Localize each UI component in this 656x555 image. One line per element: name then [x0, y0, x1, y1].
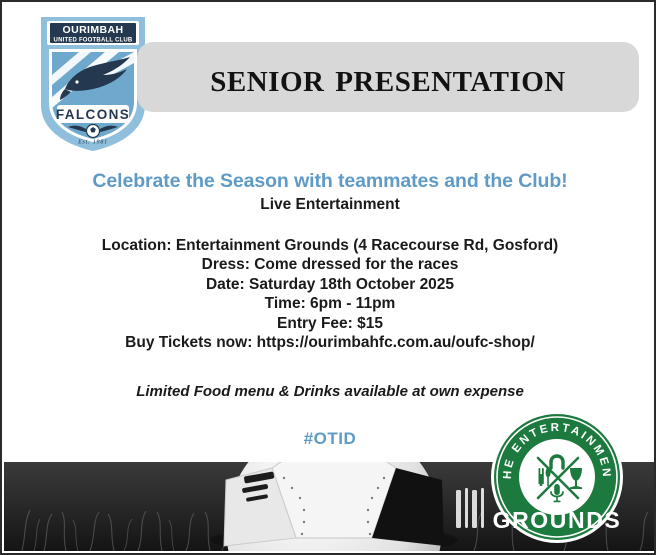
- svg-text:FALCONS: FALCONS: [56, 107, 130, 122]
- food-drinks-note: Limited Food menu & Drinks available at …: [2, 383, 656, 400]
- ourimbah-united-football-club-crest: OURIMBAH UNITED FOOTBALL CLUB FALCONS: [35, 13, 151, 154]
- the-entertainment-grounds-logo: THE ENTERTAINMENT GROUNDS: [490, 410, 624, 544]
- detail-dress: Dress: Come dressed for the races: [2, 255, 656, 274]
- event-details: Location: Entertainment Grounds (4 Racec…: [2, 236, 656, 352]
- detail-location: Location: Entertainment Grounds (4 Racec…: [2, 236, 656, 255]
- page-title: Senior Presentation: [210, 57, 565, 98]
- detail-time: Time: 6pm - 11pm: [2, 294, 656, 313]
- detail-date: Date: Saturday 18th October 2025: [2, 275, 656, 294]
- detail-tickets-link[interactable]: Buy Tickets now: https://ourimbahfc.com.…: [2, 333, 656, 352]
- headline: Celebrate the Season with teammates and …: [2, 170, 656, 193]
- svg-text:Est. 1981: Est. 1981: [77, 140, 108, 146]
- detail-entry-fee: Entry Fee: $15: [2, 314, 656, 333]
- svg-text:OURIMBAH: OURIMBAH: [63, 24, 124, 36]
- venue-logo-bottom-text: GROUNDS: [493, 507, 622, 533]
- poster-header: OURIMBAH UNITED FOOTBALL CLUB FALCONS: [2, 2, 656, 162]
- subheadline: Live Entertainment: [2, 196, 656, 214]
- svg-text:UNITED FOOTBALL CLUB: UNITED FOOTBALL CLUB: [54, 38, 133, 44]
- poster: OURIMBAH UNITED FOOTBALL CLUB FALCONS: [0, 0, 656, 555]
- title-banner: Senior Presentation: [137, 42, 639, 112]
